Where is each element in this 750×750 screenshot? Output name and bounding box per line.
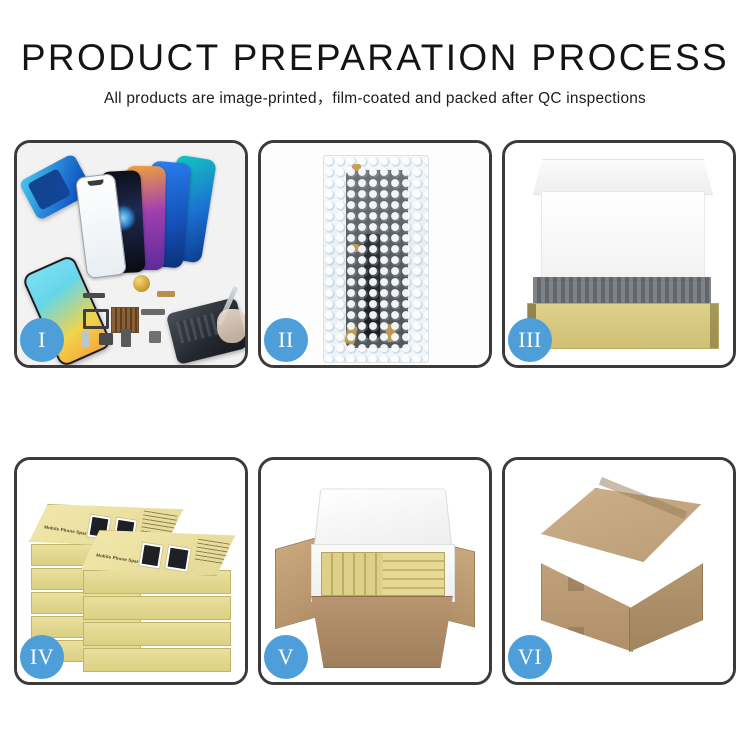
page-title: PRODUCT PREPARATION PROCESS [0, 36, 750, 80]
page-header: PRODUCT PREPARATION PROCESS All products… [0, 0, 750, 109]
step-panel-6: VI [502, 457, 736, 685]
step-panel-1: I [14, 140, 248, 368]
box-lid-icon [533, 159, 713, 195]
step-panel-5: V [258, 457, 492, 685]
part-connector-icon [157, 291, 175, 297]
step-badge-3: III [508, 318, 552, 362]
bubble-texture-icon [324, 156, 428, 362]
step-badge-5: V [264, 635, 308, 679]
vibrator-motor-icon [133, 275, 150, 292]
phone-fan-group [69, 157, 239, 277]
carton-tape-front-upper [568, 575, 584, 591]
top-box-2: Mobile Phone Spare Parts [81, 530, 235, 576]
speaker-icon [121, 329, 131, 347]
antenna-flex-icon [141, 309, 165, 315]
step-badge-4: IV [20, 635, 64, 679]
foam-sheet-icon [541, 191, 705, 281]
step-badge-6: VI [508, 635, 552, 679]
button-part-icon [149, 331, 161, 343]
carton-front-icon [305, 596, 459, 668]
stacked-box-r3 [83, 622, 231, 646]
box-window-2b [164, 544, 192, 572]
hand-icon [217, 309, 245, 343]
page-subtitle: All products are image-printed，film-coat… [0, 89, 750, 109]
carton-tape-front-lower [568, 627, 584, 641]
box-spec-lines-2 [194, 539, 229, 566]
flex-cable-icon [83, 309, 109, 329]
bubble-wrapped-package [323, 155, 429, 363]
product-preparation-process-page: PRODUCT PREPARATION PROCESS All products… [0, 0, 750, 750]
stacked-box-r4 [83, 648, 231, 672]
step-panel-4: Mobile Phone Spare Parts Mobile Phone Sp… [14, 457, 248, 685]
camera-module-icon [81, 331, 89, 347]
box-window-2a [138, 541, 164, 569]
carton-top-face-icon [541, 488, 701, 562]
step-panel-3: III [502, 140, 736, 368]
step-badge-1: I [20, 318, 64, 362]
small-part-icon [99, 333, 113, 345]
spare-parts-group [75, 279, 245, 357]
packed-yellow-boxes-icon [321, 552, 445, 596]
process-steps-grid: I II [14, 140, 736, 685]
stacked-box-r2 [83, 596, 231, 620]
yellow-box-base-icon [527, 303, 719, 349]
foam-lid-icon [313, 489, 452, 551]
step-panel-2: II [258, 140, 492, 368]
step-badge-2: II [264, 318, 308, 362]
part-strip-icon [83, 293, 105, 298]
